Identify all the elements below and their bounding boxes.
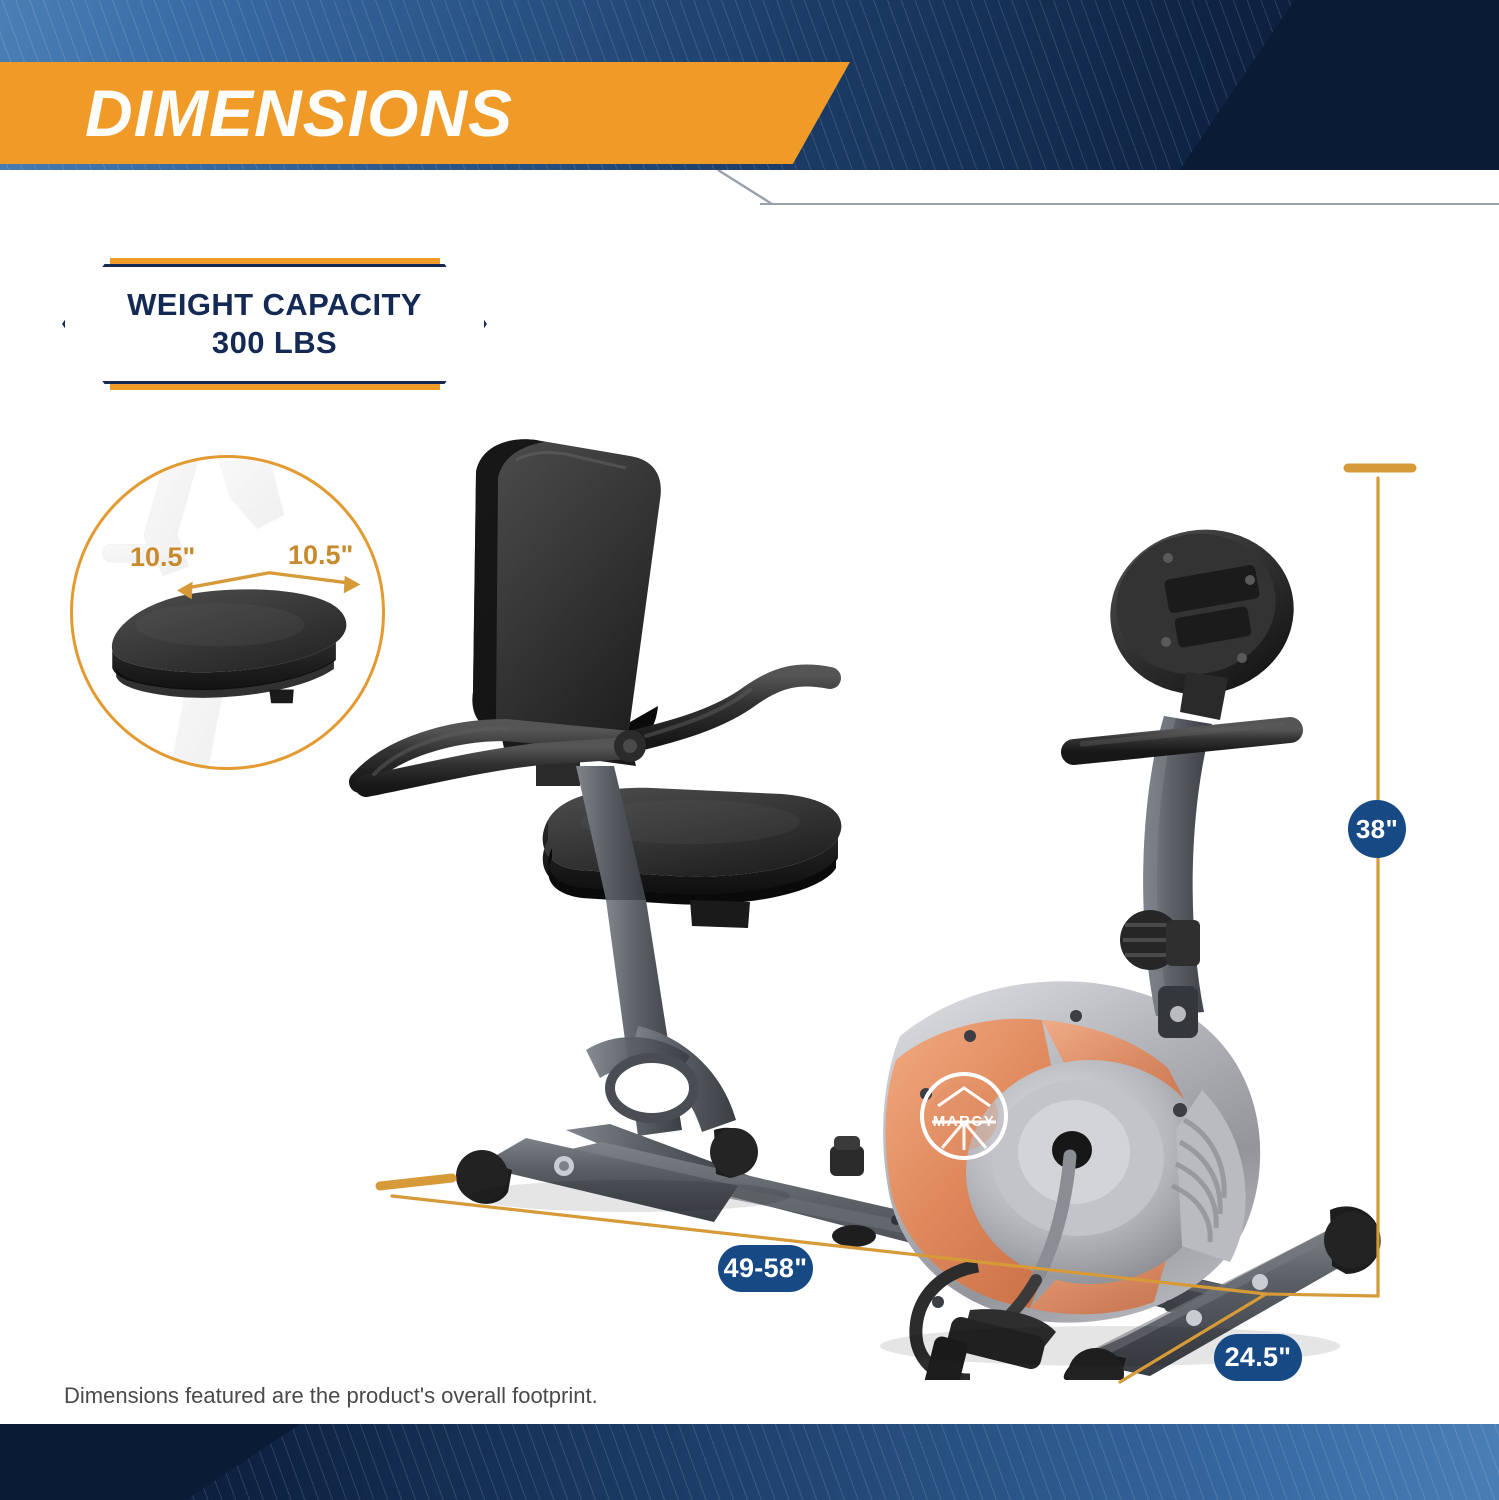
bottom-banner (0, 1424, 1499, 1500)
svg-text:MARCY: MARCY (933, 1113, 996, 1130)
badge-hexagon: WEIGHT CAPACITY 300 LBS (62, 264, 487, 384)
console-neck (1180, 672, 1228, 720)
title-banner-shape: DIMENSIONS (0, 62, 850, 164)
weight-capacity-badge: WEIGHT CAPACITY 300 LBS (62, 258, 487, 390)
footnote-text: Dimensions featured are the product's ov… (64, 1383, 598, 1409)
seat-width-arrow (184, 573, 354, 589)
seat-base-plate (690, 900, 750, 928)
dimensions-infographic: DIMENSIONS WEIGHT CAPACITY 300 LBS (0, 0, 1499, 1500)
marcy-logo: MARCY (922, 1074, 1006, 1158)
weight-capacity-label: WEIGHT CAPACITY (127, 288, 422, 323)
banner-notch-rule (760, 203, 1499, 205)
console-display (1097, 515, 1307, 720)
dimension-label-length: 49-58" (718, 1245, 813, 1292)
page-title: DIMENSIONS (85, 80, 513, 146)
weight-capacity-value: 300 LBS (212, 326, 337, 361)
seat-adjust-knob (830, 1136, 864, 1176)
product-image-recumbent-bike: MARCY (330, 430, 1390, 1380)
handlebar-crossbar (1074, 724, 1290, 752)
top-banner: DIMENSIONS (0, 0, 1499, 186)
dimension-label-width: 24.5" (1214, 1334, 1302, 1381)
frame-foot-pad (832, 1225, 876, 1247)
seat-measure-left: 10.5" (130, 542, 195, 573)
backrest (472, 439, 660, 751)
banner-notch-diagonal (716, 170, 774, 206)
seat-cushion (112, 589, 346, 703)
dimension-label-height: 38" (1348, 800, 1406, 858)
